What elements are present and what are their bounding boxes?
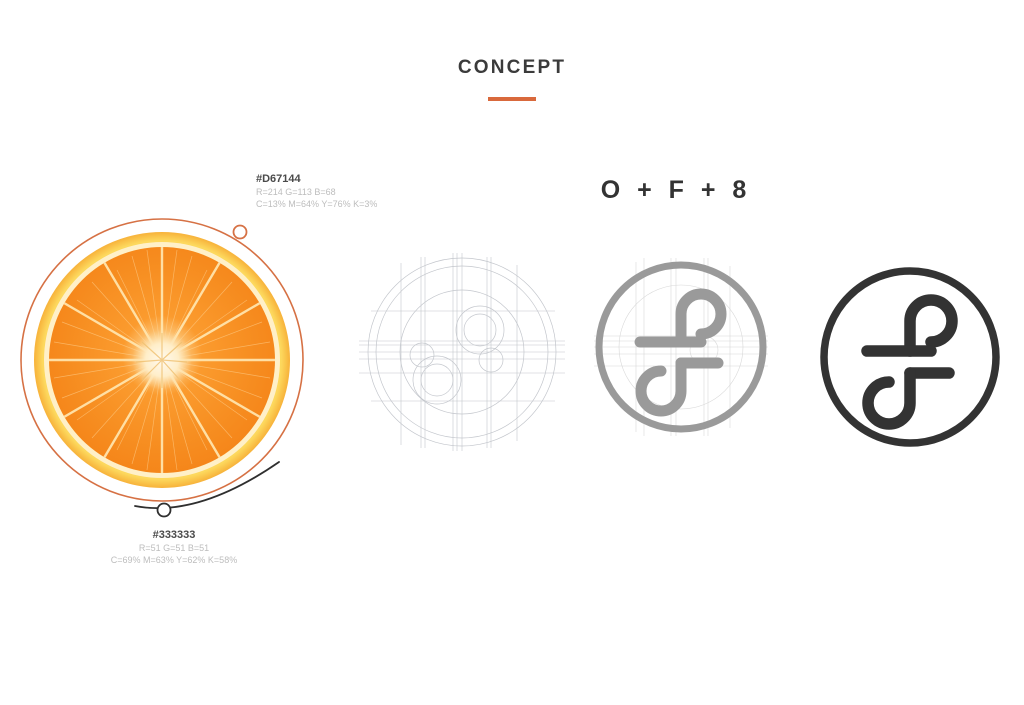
annotation-marker-orange xyxy=(234,226,247,239)
page-header: CONCEPT xyxy=(0,58,1024,101)
page-title: CONCEPT xyxy=(0,58,1024,77)
logo-gray-mark xyxy=(640,294,721,411)
logo-formula-text: O + F + 8 xyxy=(600,178,752,203)
construction-wireframe-panel xyxy=(365,255,560,450)
logo-gray-panel xyxy=(592,258,770,436)
swatch-secondary-cmyk: C=69% M=63% Y=62% K=58% xyxy=(98,554,250,566)
wireframe-grid xyxy=(359,253,565,451)
title-underline-rule xyxy=(488,97,536,101)
logo-final-panel xyxy=(815,262,1005,452)
swatch-primary-rgb: R=214 G=113 B=68 xyxy=(256,186,377,198)
swatch-secondary-rgb: R=51 G=51 B=51 xyxy=(98,542,250,554)
logo-dark-mark xyxy=(867,300,952,424)
swatch-primary-hex: #D67144 xyxy=(256,172,377,186)
color-swatch-secondary: #333333 R=51 G=51 B=51 C=69% M=63% Y=62%… xyxy=(98,528,250,566)
orange-slice-panel xyxy=(22,200,322,530)
logo-formula: O + F + 8 xyxy=(600,178,752,203)
annotation-marker-dark xyxy=(158,504,171,517)
swatch-secondary-hex: #333333 xyxy=(98,528,250,542)
